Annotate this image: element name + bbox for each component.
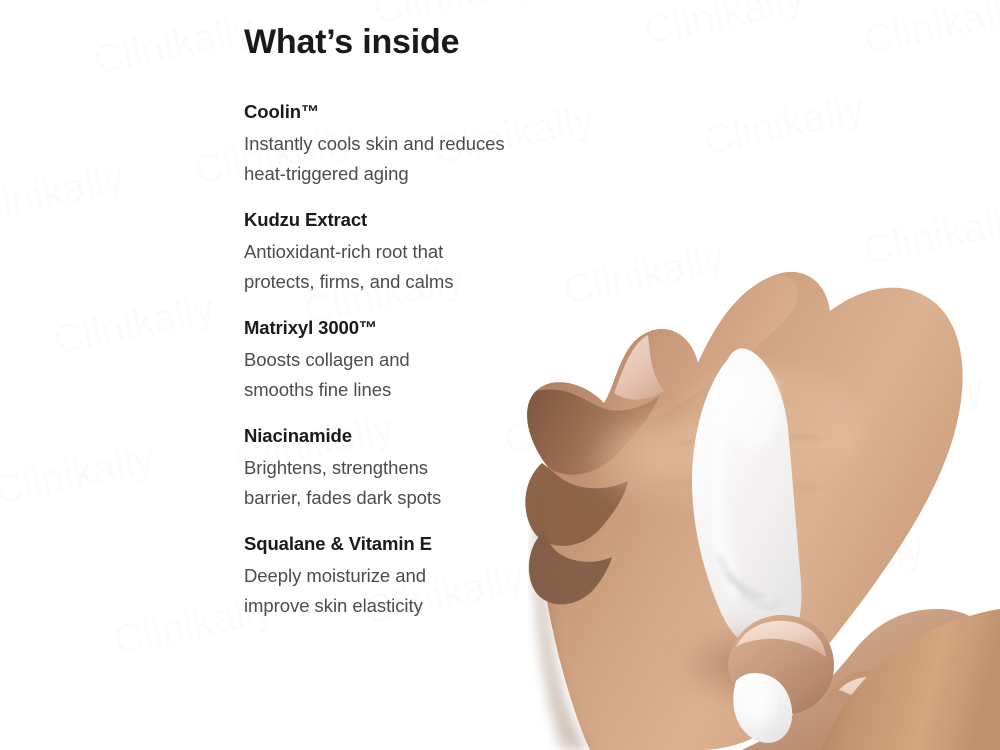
watermark-text: Clinikally bbox=[700, 86, 869, 164]
ingredient-description: Deeply moisturize and improve skin elast… bbox=[244, 561, 574, 621]
ingredient-description: Instantly cools skin and reduces heat-tr… bbox=[244, 129, 574, 189]
ingredient-name: Kudzu Extract bbox=[244, 208, 574, 233]
ingredient-name: Squalane & Vitamin E bbox=[244, 532, 574, 557]
cream-dollop-highlight bbox=[742, 681, 774, 725]
watermark-text: Clinikally bbox=[0, 156, 129, 234]
page-title: What’s inside bbox=[244, 22, 459, 63]
watermark-text: Clinikally bbox=[860, 0, 1000, 64]
product-ingredients-infographic: ClinikallyClinikallyClinikallyClinikally… bbox=[0, 0, 1000, 750]
ingredient-item: NiacinamideBrightens, strengthens barrie… bbox=[244, 424, 574, 513]
ingredient-item: Squalane & Vitamin EDeeply moisturize an… bbox=[244, 532, 574, 621]
cream-gloss bbox=[726, 367, 778, 447]
ingredient-item: Matrixyl 3000™Boosts collagen and smooth… bbox=[244, 316, 574, 405]
watermark-text: Clinikally bbox=[90, 6, 259, 84]
watermark-text: Clinikally bbox=[50, 286, 219, 364]
ingredient-name: Matrixyl 3000™ bbox=[244, 316, 574, 341]
ingredient-item: Kudzu ExtractAntioxidant-rich root that … bbox=[244, 208, 574, 297]
ingredient-name: Coolin™ bbox=[244, 100, 574, 125]
watermark-text: Clinikally bbox=[0, 436, 159, 514]
ingredient-item: Coolin™Instantly cools skin and reduces … bbox=[244, 100, 574, 189]
ingredient-description: Brightens, strengthens barrier, fades da… bbox=[244, 453, 574, 513]
ingredient-description: Boosts collagen and smooths fine lines bbox=[244, 345, 574, 405]
watermark-text: Clinikally bbox=[640, 0, 809, 54]
ingredient-description: Antioxidant-rich root that protects, fir… bbox=[244, 237, 574, 297]
ingredient-list: Coolin™Instantly cools skin and reduces … bbox=[244, 100, 574, 621]
ingredient-name: Niacinamide bbox=[244, 424, 574, 449]
text-column: What’s inside Coolin™Instantly cools ski… bbox=[244, 0, 574, 750]
